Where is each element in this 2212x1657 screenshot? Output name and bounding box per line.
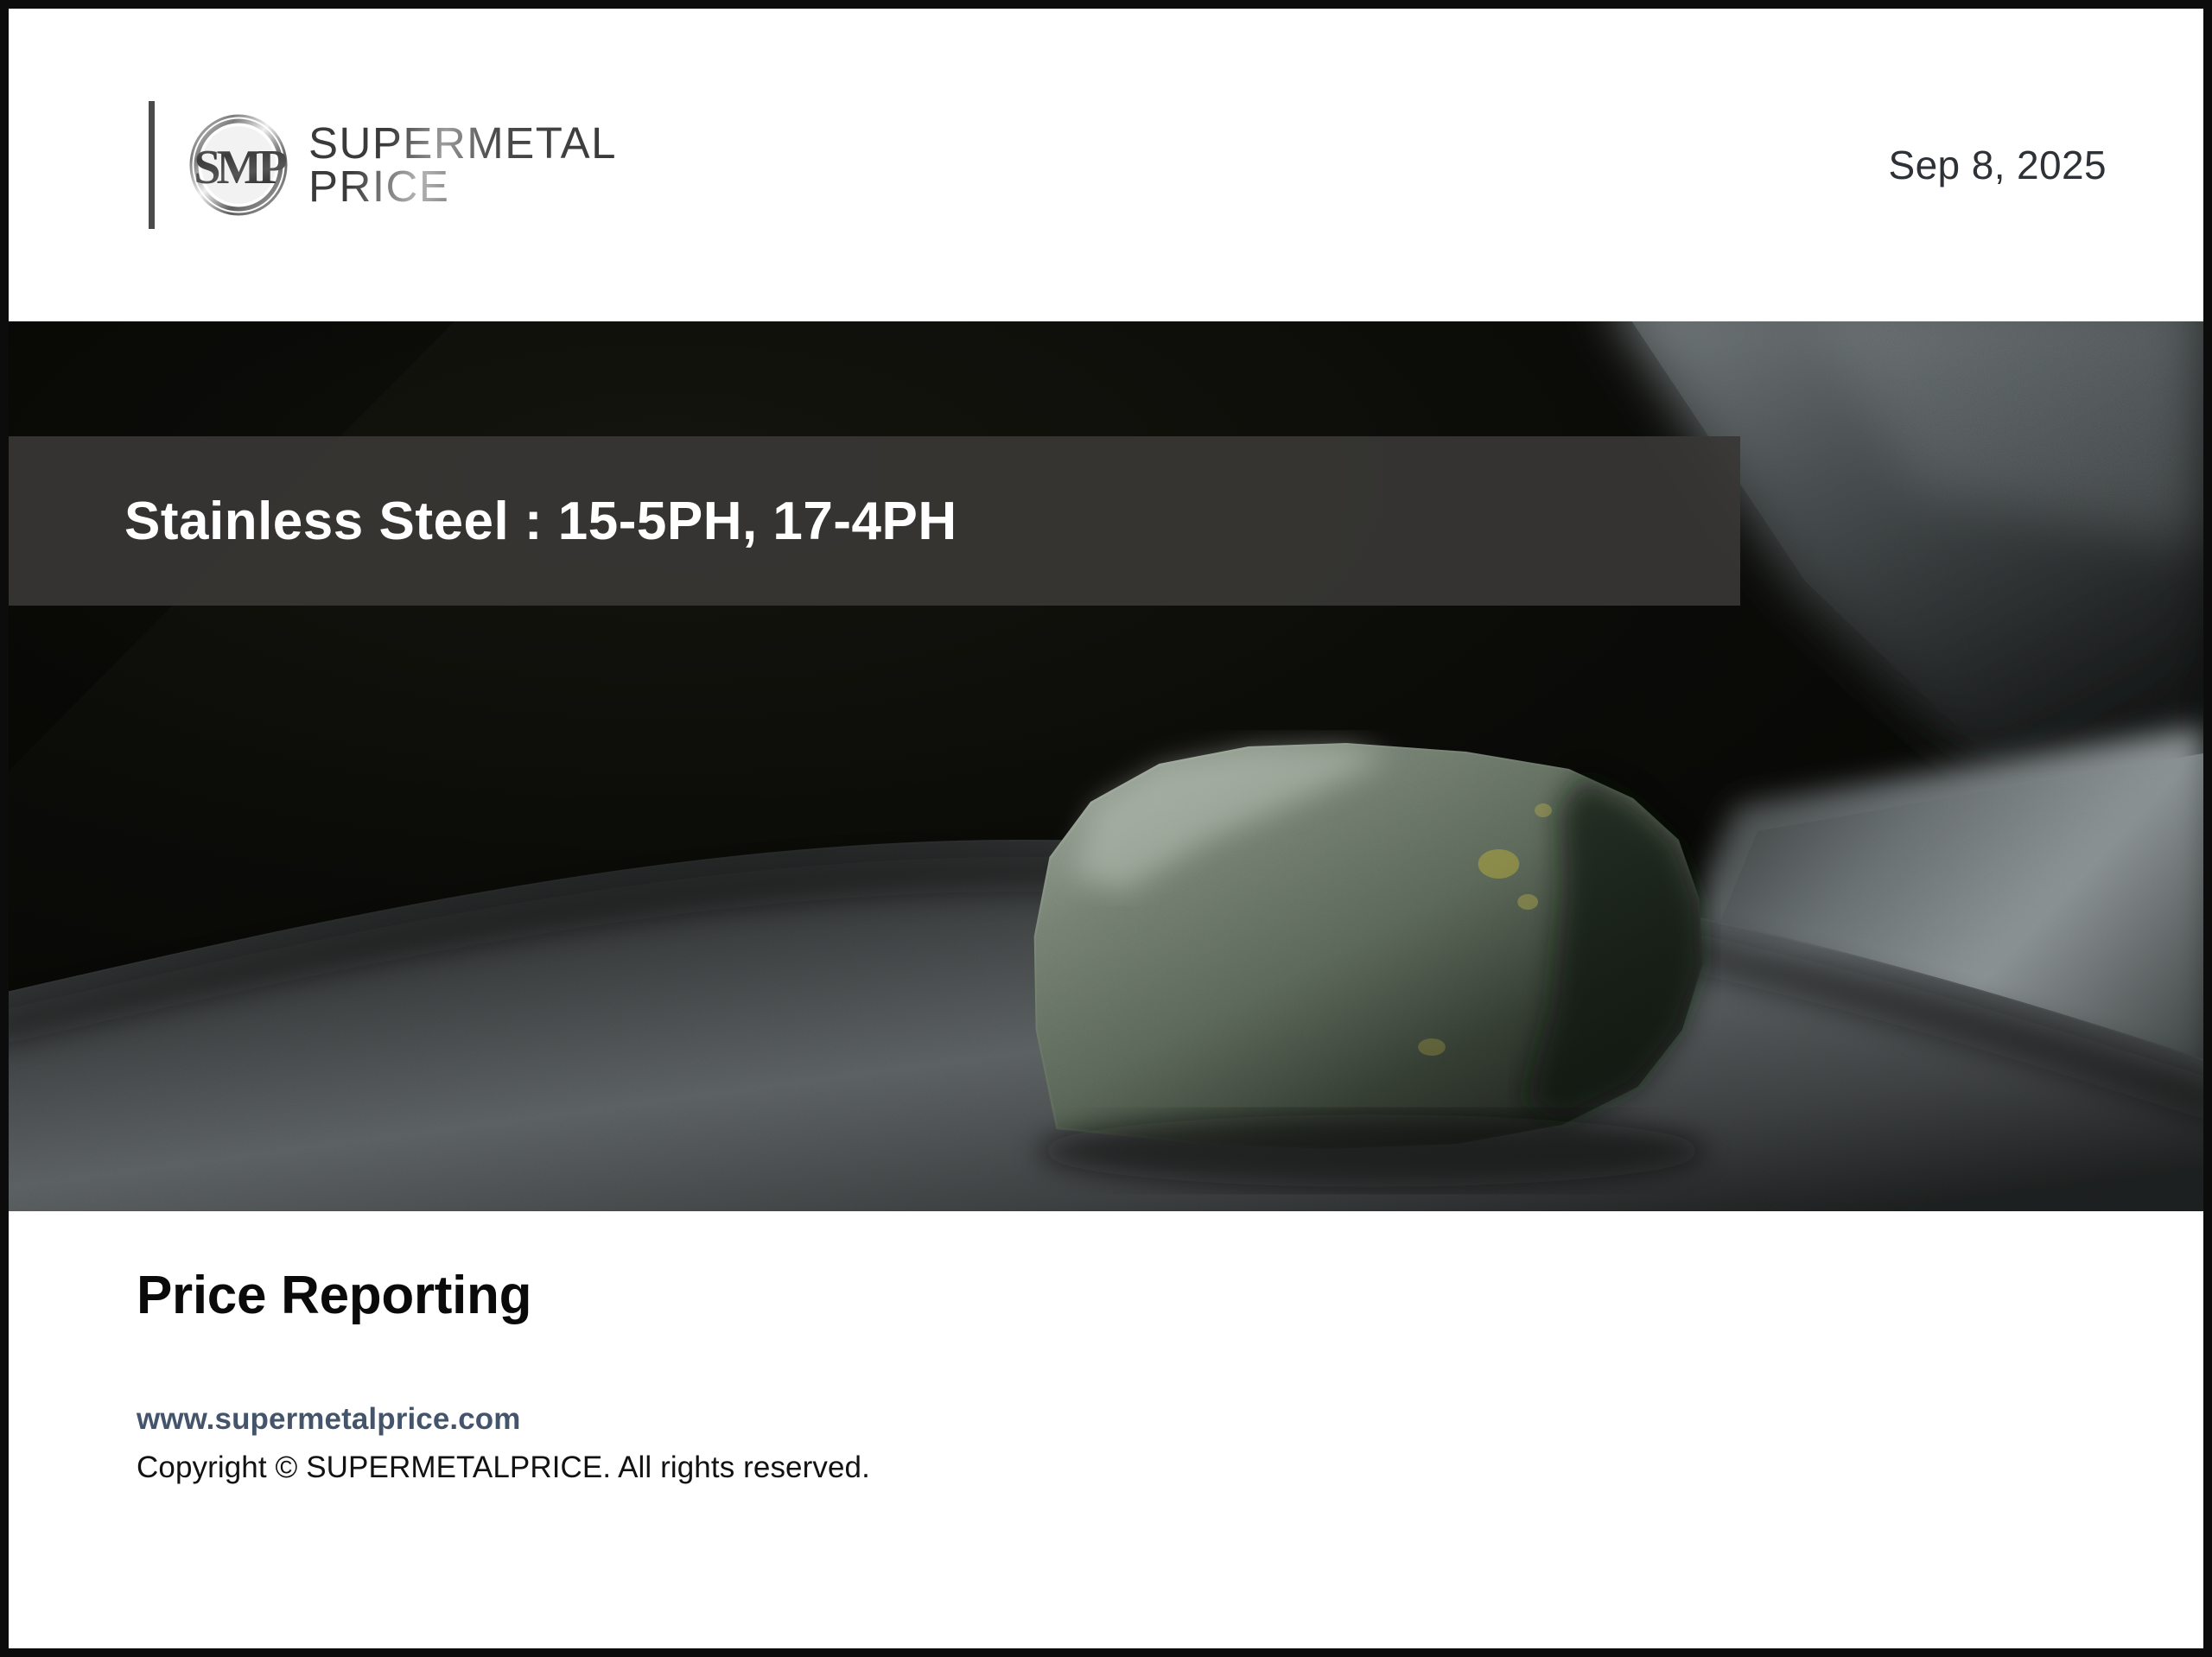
copyright-notice: Copyright © SUPERMETALPRICE. All rights …	[137, 1451, 2203, 1485]
brand-lockup: SMP SUPERMETAL PRICE	[149, 101, 617, 229]
brand-wordmark-line1: SUPERMETAL	[308, 122, 617, 165]
page-header: SMP SUPERMETAL PRICE Sep 8, 2025	[9, 9, 2203, 321]
brand-wordmark-line2: PRICE	[308, 165, 617, 208]
svg-text:SMP: SMP	[194, 141, 286, 194]
footer-heading: Price Reporting	[137, 1265, 2203, 1326]
report-cover-page: SMP SUPERMETAL PRICE Sep 8, 2025	[0, 0, 2212, 1657]
hero-title-text: Stainless Steel : 15-5PH, 17-4PH	[124, 491, 957, 552]
brand-wordmark: SUPERMETAL PRICE	[308, 122, 617, 208]
smp-medallion-icon: SMP	[188, 114, 289, 216]
page-footer: Price Reporting www.supermetalprice.com …	[9, 1211, 2203, 1648]
report-date: Sep 8, 2025	[1888, 142, 2107, 188]
hero-title-banner: Stainless Steel : 15-5PH, 17-4PH	[9, 436, 1740, 606]
page-content: SMP SUPERMETAL PRICE Sep 8, 2025	[9, 9, 2203, 1648]
hero-section: Stainless Steel : 15-5PH, 17-4PH	[9, 321, 2203, 1211]
website-link[interactable]: www.supermetalprice.com	[137, 1402, 520, 1437]
brand-divider-rule	[149, 101, 155, 229]
